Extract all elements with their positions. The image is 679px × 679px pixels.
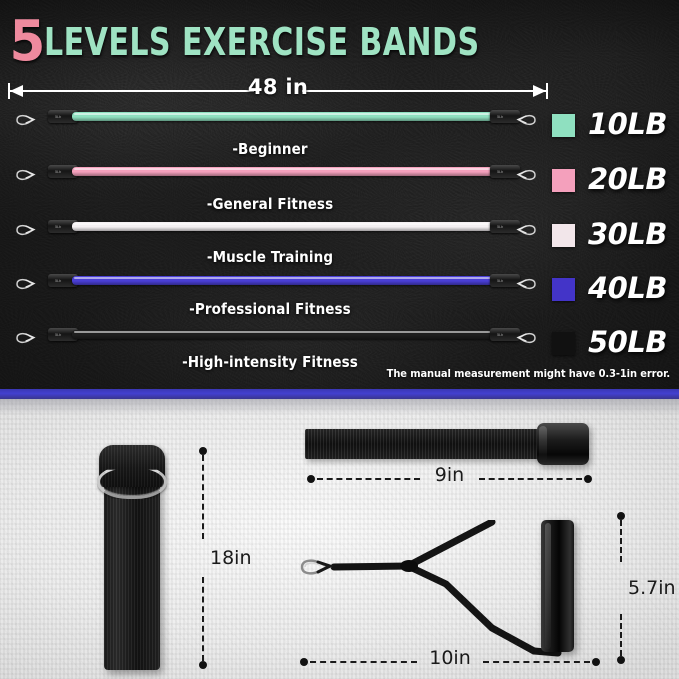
color-swatch: [552, 114, 575, 137]
color-swatch: [552, 224, 575, 247]
dimension-dash-top: [620, 520, 622, 562]
resistance-band: [72, 167, 500, 176]
length-dimension-48in: 48 in: [8, 78, 548, 104]
weight-label: 30LB: [588, 217, 667, 251]
dimension-rule-left: [10, 90, 254, 92]
band-end-text: 5Lb: [55, 224, 61, 229]
resistance-band: [72, 330, 500, 339]
dimension-dash-top: [202, 455, 204, 539]
band-description: -Professional Fitness: [0, 300, 540, 318]
title-number: 5: [9, 19, 43, 65]
band-end-text: 5Lb: [55, 169, 61, 174]
weight-label: 20LB: [588, 162, 667, 196]
dimension-dot-left: [307, 475, 315, 483]
carabiner-icon: [516, 330, 538, 346]
weight-label: 40LB: [588, 271, 667, 305]
carabiner-icon: [14, 276, 36, 292]
band-end-text: 5Lb: [497, 224, 503, 229]
carabiner-icon: [516, 276, 538, 292]
section-divider: [0, 389, 679, 399]
dimension-dot-left: [300, 658, 308, 666]
dimension-label-9in: 9in: [429, 464, 470, 486]
band-end-text: 5Lb: [497, 114, 503, 119]
dimension-dot-right: [592, 658, 600, 666]
carabiner-icon: [296, 556, 336, 578]
dimension-label-5-7in: 5.7in: [628, 577, 676, 599]
dimension-label-18in: 18in: [210, 547, 252, 569]
handle-foam-grip: [541, 520, 574, 652]
dimension-label-48in: 48 in: [239, 75, 317, 99]
dimension-10in: 10in: [300, 655, 600, 669]
band-end-text: 5Lb: [55, 278, 61, 283]
dimension-18in: 18in: [196, 447, 210, 669]
title-text: LEVELS EXERCISE BANDS: [44, 23, 480, 61]
infographic-stage: 5 LEVELS EXERCISE BANDS 48 in 5Lb5Lb10LB…: [0, 0, 679, 679]
door-anchor: [305, 423, 595, 465]
panel-top-shadow: [0, 399, 679, 415]
carabiner-icon: [14, 167, 36, 183]
door-anchor-strap: [98, 445, 166, 670]
carabiner-icon: [516, 167, 538, 183]
dimension-tick-right: [546, 83, 548, 99]
color-swatch: [552, 278, 575, 301]
band-description: -Muscle Training: [0, 248, 540, 266]
dimension-dot-top: [617, 512, 625, 520]
carabiner-icon: [516, 222, 538, 238]
resistance-band: [72, 112, 500, 121]
dimension-dash-right: [479, 478, 582, 480]
arrow-right-icon: [533, 85, 546, 97]
band-end-text: 5Lb: [497, 169, 503, 174]
dimension-dot-right: [584, 475, 592, 483]
dimension-dot-top: [199, 447, 207, 455]
dimension-rule-right: [302, 90, 546, 92]
color-swatch: [552, 169, 575, 192]
dimension-dot-bottom: [617, 656, 625, 664]
band-description: -General Fitness: [0, 195, 540, 213]
carabiner-icon: [14, 330, 36, 346]
top-dark-panel: 5 LEVELS EXERCISE BANDS 48 in 5Lb5Lb10LB…: [0, 0, 679, 389]
color-swatch: [552, 332, 575, 355]
weight-label: 50LB: [588, 325, 667, 359]
measurement-disclaimer: The manual measurement might have 0.3-1i…: [387, 367, 670, 380]
band-description: -Beginner: [0, 140, 540, 158]
band-end-text: 5Lb: [55, 332, 61, 337]
dimension-dash-right: [483, 661, 590, 663]
dimension-dash-left: [317, 478, 420, 480]
carabiner-icon: [516, 112, 538, 128]
band-end-text: 5Lb: [497, 332, 503, 337]
arrow-left-icon: [10, 85, 23, 97]
anchor-webbing: [305, 429, 545, 459]
carabiner-icon: [14, 112, 36, 128]
resistance-band: [72, 276, 500, 285]
band-end-text: 5Lb: [55, 114, 61, 119]
carabiner-icon: [14, 222, 36, 238]
dimension-dash-left: [310, 661, 417, 663]
dimension-dash-bottom: [620, 614, 622, 656]
dimension-5-7in: 5.7in: [614, 512, 628, 664]
dimension-label-10in: 10in: [423, 647, 477, 669]
d-ring-icon: [97, 465, 167, 499]
anchor-foam-block: [537, 423, 589, 465]
weight-label: 10LB: [588, 107, 667, 141]
resistance-band: [72, 222, 500, 231]
dimension-9in: 9in: [307, 472, 592, 486]
dimension-dash-bottom: [202, 577, 204, 661]
page-title: 5 LEVELS EXERCISE BANDS: [8, 16, 539, 68]
dimension-dot-bottom: [199, 661, 207, 669]
band-end-text: 5Lb: [497, 278, 503, 283]
